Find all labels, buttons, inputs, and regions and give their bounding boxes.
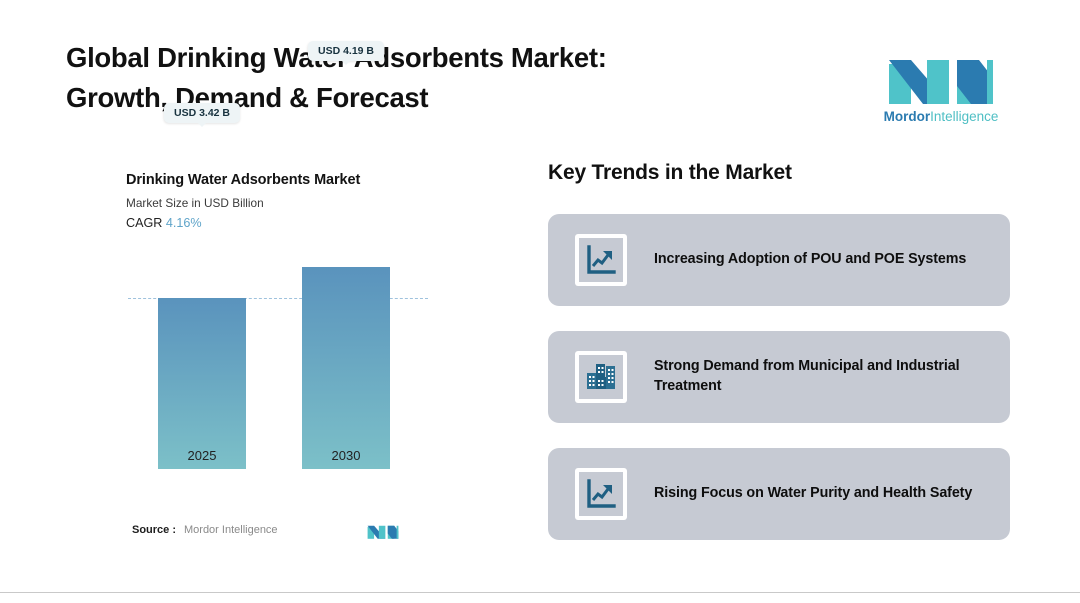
trend-icon-inner — [579, 472, 623, 516]
brand-logo: MordorIntelligence — [866, 48, 1016, 126]
trends-heading: Key Trends in the Market — [548, 160, 1010, 185]
source-value: Mordor Intelligence — [184, 524, 278, 536]
chart-cagr: CAGR 4.16% — [126, 216, 436, 231]
source-label: Source : — [132, 524, 176, 536]
trend-icon-frame — [575, 468, 627, 520]
mordor-logo-mark — [887, 48, 995, 104]
trend-icon-inner — [579, 355, 623, 399]
chart-cagr-value: 4.16% — [166, 216, 202, 230]
bar-2025[interactable] — [158, 298, 246, 469]
buildings-icon — [584, 360, 618, 394]
chart-subtitle: Market Size in USD Billion — [126, 196, 436, 210]
bar-chart-plot: USD 3.42 B 2025 USD 4.19 B 2030 — [126, 244, 436, 499]
chart-panel: Drinking Water Adsorbents Market Market … — [126, 172, 436, 547]
trend-icon-inner — [579, 238, 623, 282]
x-axis-label-2025: 2025 — [188, 448, 217, 463]
chart-title: Drinking Water Adsorbents Market — [126, 172, 436, 189]
trend-label: Increasing Adoption of POU and POE Syste… — [654, 250, 966, 270]
bar-value-badge: USD 3.42 B — [164, 103, 240, 123]
line-chart-up-icon — [584, 243, 618, 277]
header: Global Drinking Water Adsorbents Market:… — [0, 0, 1080, 148]
chart-cagr-label: CAGR — [126, 216, 162, 230]
bar-2030[interactable] — [302, 267, 390, 469]
x-axis-label-2030: 2030 — [332, 448, 361, 463]
trend-icon-frame — [575, 351, 627, 403]
trend-label: Strong Demand from Municipal and Industr… — [654, 357, 992, 396]
mordor-intelligence-mark — [367, 522, 399, 539]
trend-card[interactable]: Strong Demand from Municipal and Industr… — [548, 331, 1010, 423]
bar-value-badge: USD 4.19 B — [308, 41, 384, 61]
footer-divider — [0, 592, 1080, 593]
logo-word-mordor: Mordor — [884, 109, 931, 124]
source-row: Source : Mordor Intelligence — [132, 522, 432, 544]
trend-card[interactable]: Rising Focus on Water Purity and Health … — [548, 448, 1010, 540]
trend-label: Rising Focus on Water Purity and Health … — [654, 484, 972, 504]
trend-icon-frame — [575, 234, 627, 286]
line-chart-up-icon — [584, 477, 618, 511]
trends-panel: Key Trends in the Market Increasing Adop… — [548, 160, 1010, 540]
trend-card[interactable]: Increasing Adoption of POU and POE Syste… — [548, 214, 1010, 306]
bar-group-2030: USD 4.19 B 2030 — [302, 267, 390, 469]
logo-word-intelligence: Intelligence — [930, 109, 998, 124]
logo-wordmark: MordorIntelligence — [866, 110, 1016, 124]
bar-group-2025: USD 3.42 B 2025 — [158, 298, 246, 469]
